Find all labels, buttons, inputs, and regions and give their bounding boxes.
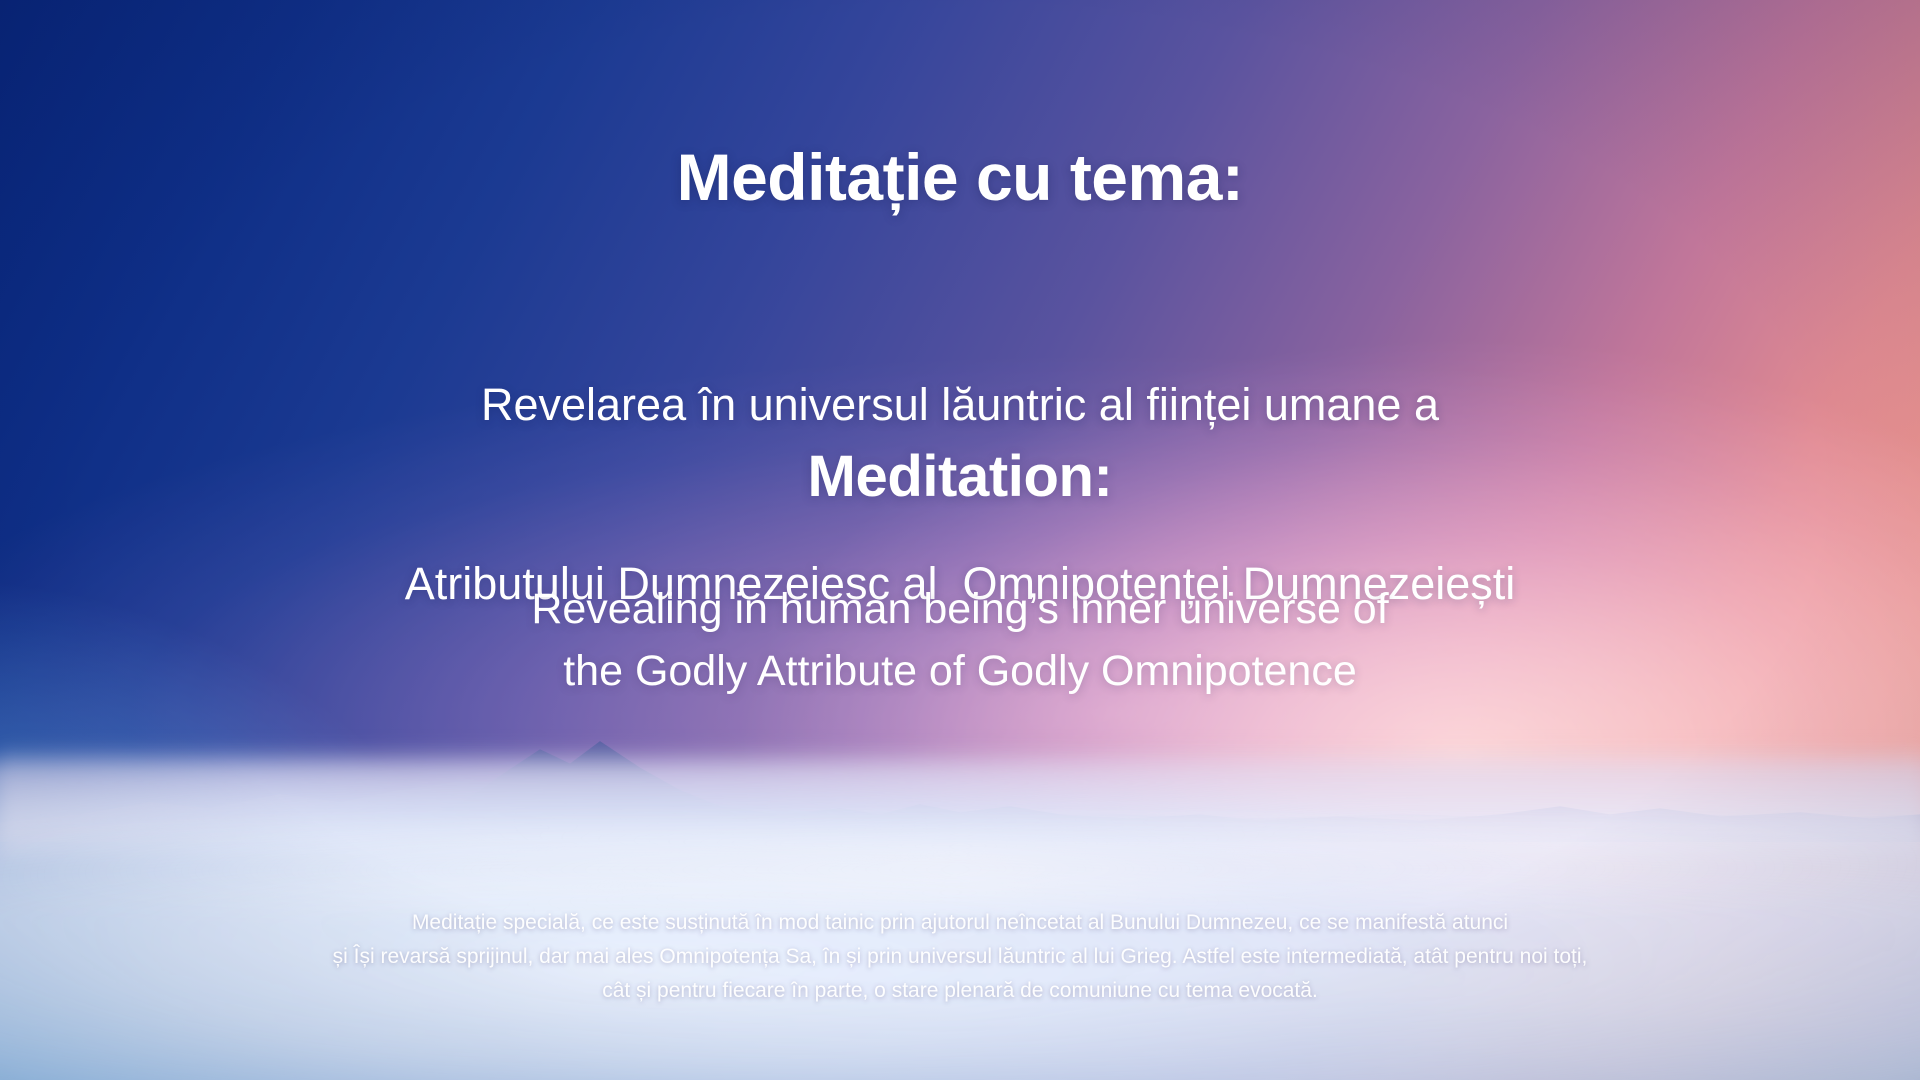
headline-romanian: Meditație cu tema: bbox=[0, 143, 1920, 213]
footnote-line-2: și Își revarsă sprijinul, dar mai ales O… bbox=[0, 940, 1920, 974]
footnote-line-1: Meditație specială, ce este susținută în… bbox=[0, 906, 1920, 940]
subtitle-romanian-line-1: Revelarea în universul lăuntric al ființ… bbox=[0, 375, 1920, 435]
footnote-romanian: Meditație specială, ce este susținută în… bbox=[0, 906, 1920, 1008]
presentation-slide: Meditație cu tema: Revelarea în universu… bbox=[0, 0, 1920, 1080]
headline-english: Meditation: bbox=[0, 446, 1920, 507]
subtitle-english-line-1: Revealing in human being’s inner univers… bbox=[0, 578, 1920, 640]
subtitle-english: Revealing in human being’s inner univers… bbox=[0, 578, 1920, 703]
subtitle-english-line-2: the Godly Attribute of Godly Omnipotence bbox=[0, 640, 1920, 702]
slide-content: Meditație cu tema: Revelarea în universu… bbox=[0, 0, 1920, 1080]
footnote-line-3: cât și pentru fiecare în parte, o stare … bbox=[0, 974, 1920, 1008]
